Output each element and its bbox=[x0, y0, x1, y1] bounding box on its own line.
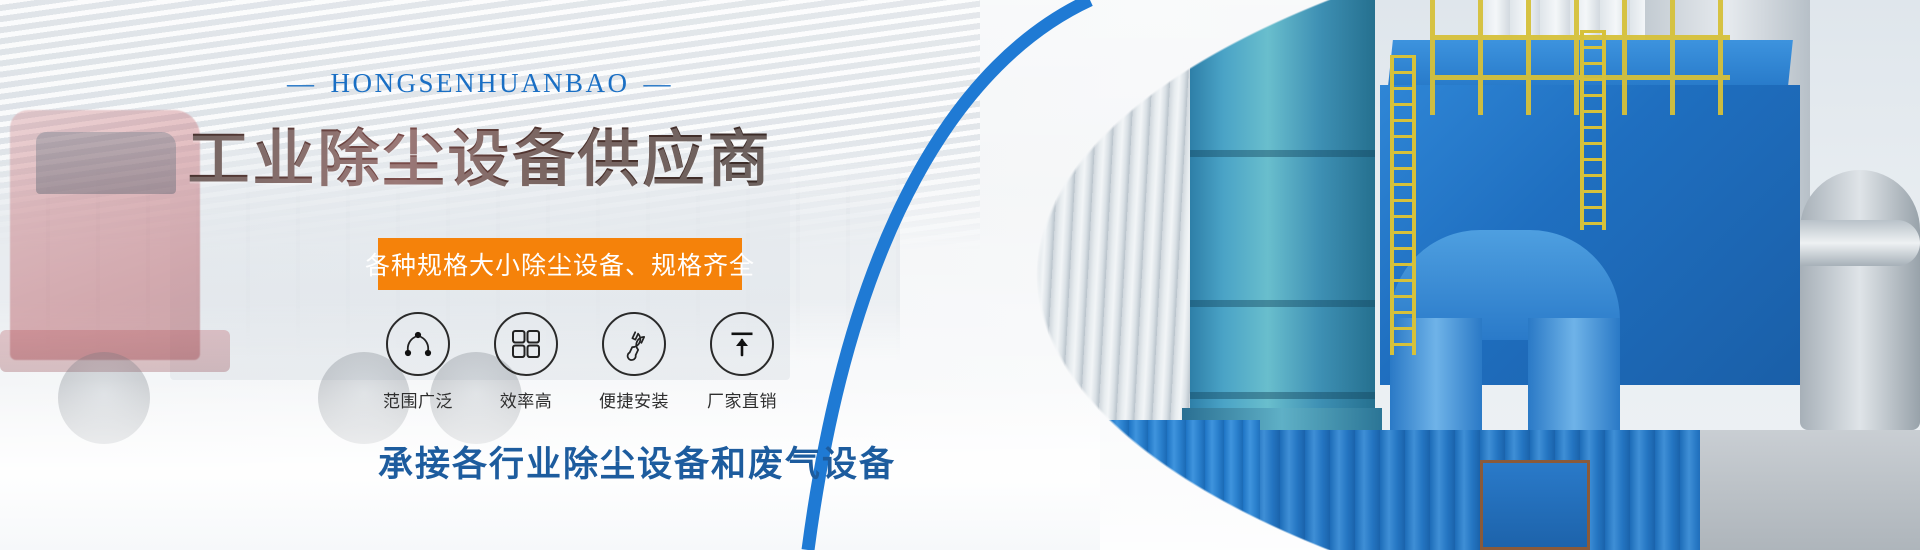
feature-label: 范围广泛 bbox=[378, 387, 458, 412]
feature-item-range[interactable]: 范围广泛 bbox=[378, 312, 458, 412]
feature-item-factory-direct[interactable]: 厂家直销 bbox=[702, 312, 782, 412]
dash-left-icon: — bbox=[287, 68, 317, 99]
feature-label: 厂家直销 bbox=[702, 387, 782, 412]
feature-item-efficiency[interactable]: 效率高 bbox=[486, 312, 566, 412]
dash-right-icon: — bbox=[644, 68, 674, 99]
network-nodes-icon bbox=[386, 312, 450, 376]
feature-item-install[interactable]: 便捷安装 bbox=[594, 312, 674, 412]
brand-pinyin: HONGSENHUANBAO bbox=[330, 68, 629, 98]
feature-label: 效率高 bbox=[486, 387, 566, 412]
hero-banner: —HONGSENHUANBAO— 工业除尘设备供应商 各种规格大小除尘设备、规格… bbox=[0, 0, 1920, 550]
grid-squares-icon bbox=[494, 312, 558, 376]
hero-tagline: 承接各行业除尘设备和废气设备 bbox=[378, 436, 898, 487]
brand-eyebrow: —HONGSENHUANBAO— bbox=[0, 68, 960, 99]
arrow-up-bar-icon bbox=[710, 312, 774, 376]
orange-subtitle-banner: 各种规格大小除尘设备、规格齐全 bbox=[378, 238, 742, 290]
page-title: 工业除尘设备供应商 bbox=[0, 108, 960, 198]
hero-content: —HONGSENHUANBAO— 工业除尘设备供应商 各种规格大小除尘设备、规格… bbox=[0, 0, 960, 550]
feature-list: 范围广泛 效率高 bbox=[378, 312, 782, 412]
wrench-icon bbox=[602, 312, 666, 376]
feature-label: 便捷安装 bbox=[594, 387, 674, 412]
orange-subtitle-text: 各种规格大小除尘设备、规格齐全 bbox=[365, 246, 755, 282]
